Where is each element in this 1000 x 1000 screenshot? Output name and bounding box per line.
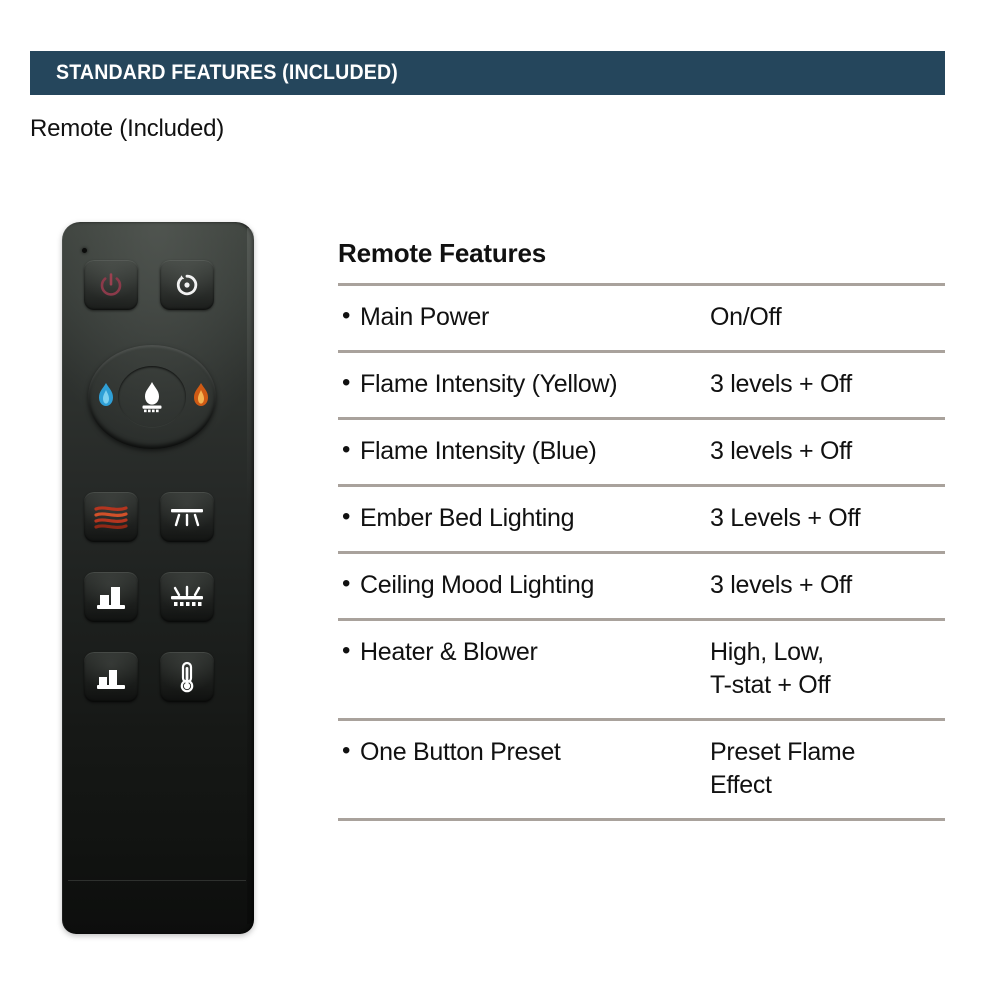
feature-value-line-1: High, Low, — [710, 636, 945, 669]
feature-value: 3 levels + Off — [710, 368, 945, 401]
remote-main-power-button[interactable] — [84, 260, 138, 310]
table-row: • Heater & Blower High, Low, T-stat + Of… — [338, 621, 945, 718]
row-bullet: • — [338, 636, 360, 666]
preset-circle-icon — [174, 272, 200, 298]
table-title: Remote Features — [338, 238, 945, 283]
standard-features-banner: STANDARD FEATURES (INCLUDED) — [30, 51, 945, 95]
remote-ceiling-mood-lighting-button[interactable] — [160, 492, 214, 542]
feature-value: Preset Flame Effect — [710, 736, 945, 802]
remote-one-button-preset-button[interactable] — [160, 260, 214, 310]
feature-value-line-1: 3 levels + Off — [710, 435, 945, 468]
feature-name: Ember Bed Lighting — [360, 502, 710, 535]
feature-value-line-1: Preset Flame — [710, 736, 945, 769]
table-row: • Flame Intensity (Blue) 3 levels + Off — [338, 420, 945, 484]
heat-level-icon — [94, 582, 128, 612]
thermometer-icon — [176, 661, 198, 693]
remote-control-image — [60, 220, 256, 936]
remote-heater-level-low-button[interactable] — [84, 572, 138, 622]
table-row: • One Button Preset Preset Flame Effect — [338, 721, 945, 818]
feature-value: 3 Levels + Off — [710, 502, 945, 535]
section-subtitle: Remote (Included) — [30, 115, 224, 143]
feature-value-line-1: 3 levels + Off — [710, 368, 945, 401]
remote-ember-bed-lighting-button[interactable] — [84, 492, 138, 542]
feature-name: Flame Intensity (Yellow) — [360, 368, 710, 401]
feature-value: On/Off — [710, 301, 945, 334]
feature-value-line-1: 3 levels + Off — [710, 569, 945, 602]
feature-value-line-2: T-stat + Off — [710, 669, 945, 702]
feature-value-line-1: On/Off — [710, 301, 945, 334]
flame-blue-icon — [95, 381, 117, 409]
row-bullet: • — [338, 736, 360, 766]
row-bullet: • — [338, 569, 360, 599]
heat-level-high-icon — [94, 662, 128, 692]
remote-blower-button[interactable] — [160, 572, 214, 622]
blower-fan-icon — [169, 583, 205, 611]
feature-value: High, Low, T-stat + Off — [710, 636, 945, 702]
remote-thermostat-button[interactable] — [160, 652, 214, 702]
table-row: • Ceiling Mood Lighting 3 levels + Off — [338, 554, 945, 618]
flame-white-icon — [135, 379, 169, 415]
feature-value-line-1: 3 Levels + Off — [710, 502, 945, 535]
ir-led-dot — [82, 248, 87, 253]
remote-flame-intensity-ring[interactable] — [88, 345, 216, 449]
ember-bed-icon — [93, 503, 129, 531]
feature-value: 3 levels + Off — [710, 435, 945, 468]
ceiling-light-icon — [169, 503, 205, 531]
feature-name: Flame Intensity (Blue) — [360, 435, 710, 468]
feature-name: Heater & Blower — [360, 636, 710, 669]
battery-door-seam — [68, 880, 246, 881]
feature-name: Ceiling Mood Lighting — [360, 569, 710, 602]
remote-features-table: Remote Features • Main Power On/Off • Fl… — [338, 238, 945, 821]
table-row: • Ember Bed Lighting 3 Levels + Off — [338, 487, 945, 551]
banner-title: STANDARD FEATURES (INCLUDED) — [30, 61, 398, 85]
row-bullet: • — [338, 435, 360, 465]
row-bullet: • — [338, 368, 360, 398]
feature-value-line-2: Effect — [710, 769, 945, 802]
remote-heater-level-high-button[interactable] — [84, 652, 138, 702]
table-row: • Flame Intensity (Yellow) 3 levels + Of… — [338, 353, 945, 417]
row-divider — [338, 818, 945, 821]
flame-orange-icon — [190, 381, 212, 409]
remote-flame-center-button[interactable] — [118, 366, 186, 428]
feature-name: One Button Preset — [360, 736, 710, 769]
feature-name: Main Power — [360, 301, 710, 334]
table-row: • Main Power On/Off — [338, 286, 945, 350]
power-icon — [98, 272, 124, 298]
row-bullet: • — [338, 502, 360, 532]
row-bullet: • — [338, 301, 360, 331]
feature-value: 3 levels + Off — [710, 569, 945, 602]
